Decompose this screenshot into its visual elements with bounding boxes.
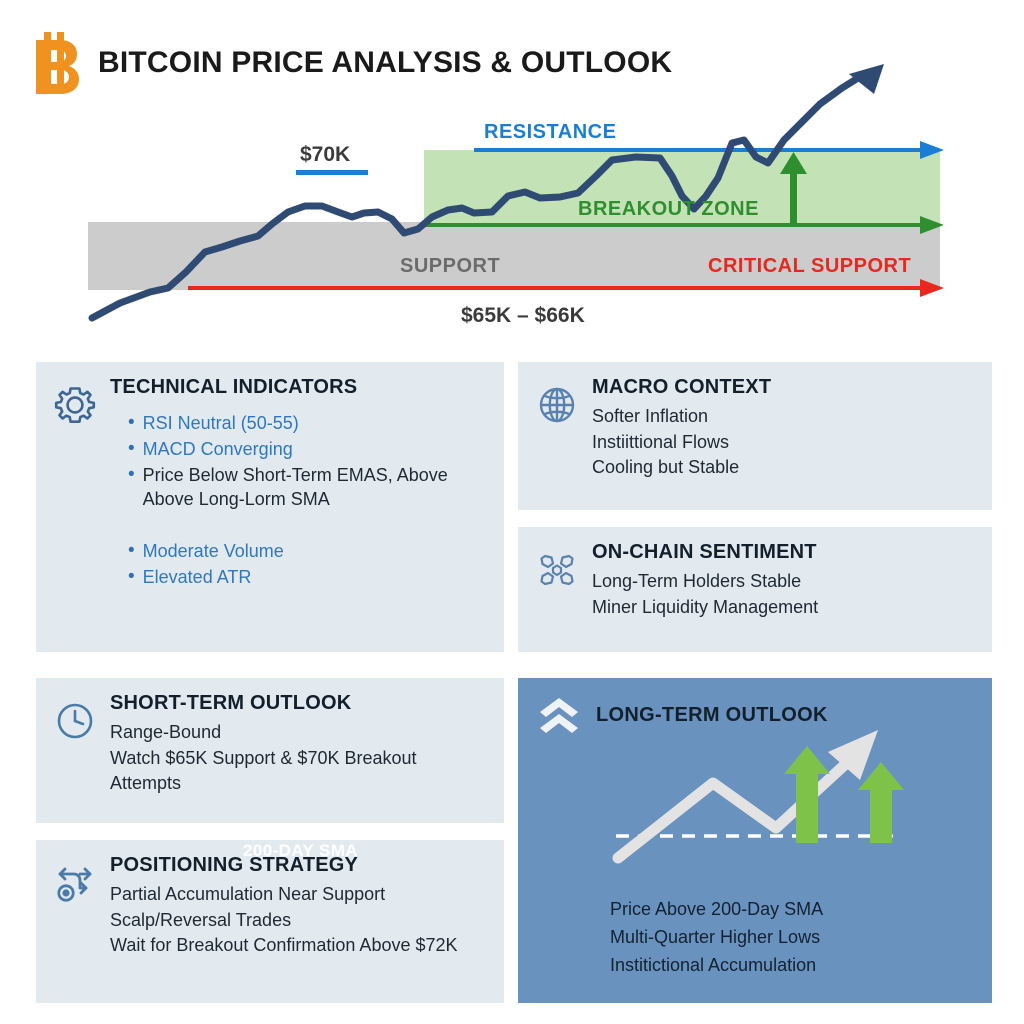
resistance-label: RESISTANCE: [484, 121, 616, 143]
strategy-arrows-icon: [52, 860, 98, 906]
card-text-line: Long-Term Holders Stable: [592, 569, 974, 595]
card-text-line: Attempts: [110, 771, 486, 797]
card-text-line: Multi-Quarter Higher Lows: [610, 924, 823, 952]
blockchain-nodes-icon: [534, 547, 580, 593]
card-title: TECHNICAL INDICATORS: [110, 376, 486, 399]
list-item: • Moderate Volume: [128, 539, 486, 564]
card-text-line: Range-Bound: [110, 720, 486, 746]
card-long-term-outlook[interactable]: LONG-TERM OUTLOOK: [518, 678, 992, 1003]
bullet-icon: •: [128, 565, 135, 590]
card-text-line: Institictional Accumulation: [610, 952, 823, 980]
card-text-line: Instiittional Flows: [592, 430, 974, 456]
card-title: MACRO CONTEXT: [592, 376, 974, 399]
card-macro-context[interactable]: MACRO CONTEXT Softer Inflation Instiitti…: [518, 362, 992, 510]
list-item-label: MACD Converging: [143, 437, 486, 462]
list-item-label: RSI Neutral (50-55): [143, 411, 486, 436]
price-high-label: $70K: [300, 143, 350, 166]
green-up-arrow-2: [858, 762, 904, 843]
list-item: • RSI Neutral (50-55): [128, 411, 486, 436]
long-term-trend-chart: [518, 702, 992, 892]
bullet-icon: •: [128, 437, 135, 462]
infographic-root: BITCOIN PRICE ANALYSIS & OUTLOOK: [0, 0, 1024, 1024]
list-item-label: Price Below Short-Term EMAS, Above Above…: [143, 463, 486, 513]
card-text-line: Price Above 200-Day SMA: [610, 896, 823, 924]
price-range-label: $65K – $66K: [461, 304, 585, 327]
support-label: SUPPORT: [400, 255, 500, 277]
long-term-text-lines: Price Above 200-Day SMA Multi-Quarter Hi…: [610, 896, 823, 980]
list-item-label: Moderate Volume: [143, 539, 486, 564]
card-text-line: Wait for Breakout Confirmation Above $72…: [110, 933, 486, 959]
price-high-underline: [296, 170, 368, 175]
technical-bullet-list: • RSI Neutral (50-55) • MACD Converging …: [110, 411, 486, 590]
card-technical-indicators[interactable]: TECHNICAL INDICATORS • RSI Neutral (50-5…: [36, 362, 504, 652]
card-text-line: Cooling but Stable: [592, 455, 974, 481]
card-short-term-outlook[interactable]: SHORT-TERM OUTLOOK Range-Bound Watch $65…: [36, 678, 504, 823]
bullet-icon: •: [128, 463, 135, 488]
card-title: ON-CHAIN SENTIMENT: [592, 541, 974, 564]
card-text-line: Softer Inflation: [592, 404, 974, 430]
list-item: • Elevated ATR: [128, 565, 486, 590]
list-item: • MACD Converging: [128, 437, 486, 462]
breakout-zone-label: BREAKOUT ZONE: [578, 198, 759, 220]
list-item-label: Elevated ATR: [143, 565, 486, 590]
card-text-line: Watch $65K Support & $70K Breakout: [110, 746, 486, 772]
card-text-line: Scalp/Reversal Trades: [110, 908, 486, 934]
bullet-icon: •: [128, 411, 135, 436]
list-item: • Price Below Short-Term EMAS, Above Abo…: [128, 463, 486, 513]
card-title: SHORT-TERM OUTLOOK: [110, 692, 486, 715]
clock-icon: [52, 698, 98, 744]
globe-icon: [534, 382, 580, 428]
green-up-arrow-1: [784, 746, 830, 843]
critical-support-label: CRITICAL SUPPORT: [708, 255, 911, 277]
card-onchain-sentiment[interactable]: ON-CHAIN SENTIMENT Long-Term Holders Sta…: [518, 527, 992, 652]
price-chart: $70K RESISTANCE BREAKOUT ZONE SUPPORT CR…: [0, 60, 1024, 345]
card-positioning-strategy[interactable]: POSITIONING STRATEGY Partial Accumulatio…: [36, 840, 504, 1003]
card-text-line: Partial Accumulation Near Support: [110, 882, 486, 908]
bullet-icon: •: [128, 539, 135, 564]
sma-label: 200-DAY SMA: [243, 841, 358, 861]
card-text-line: Miner Liquidity Management: [592, 595, 974, 621]
gear-icon: [52, 382, 98, 428]
list-spacer: [128, 513, 486, 539]
